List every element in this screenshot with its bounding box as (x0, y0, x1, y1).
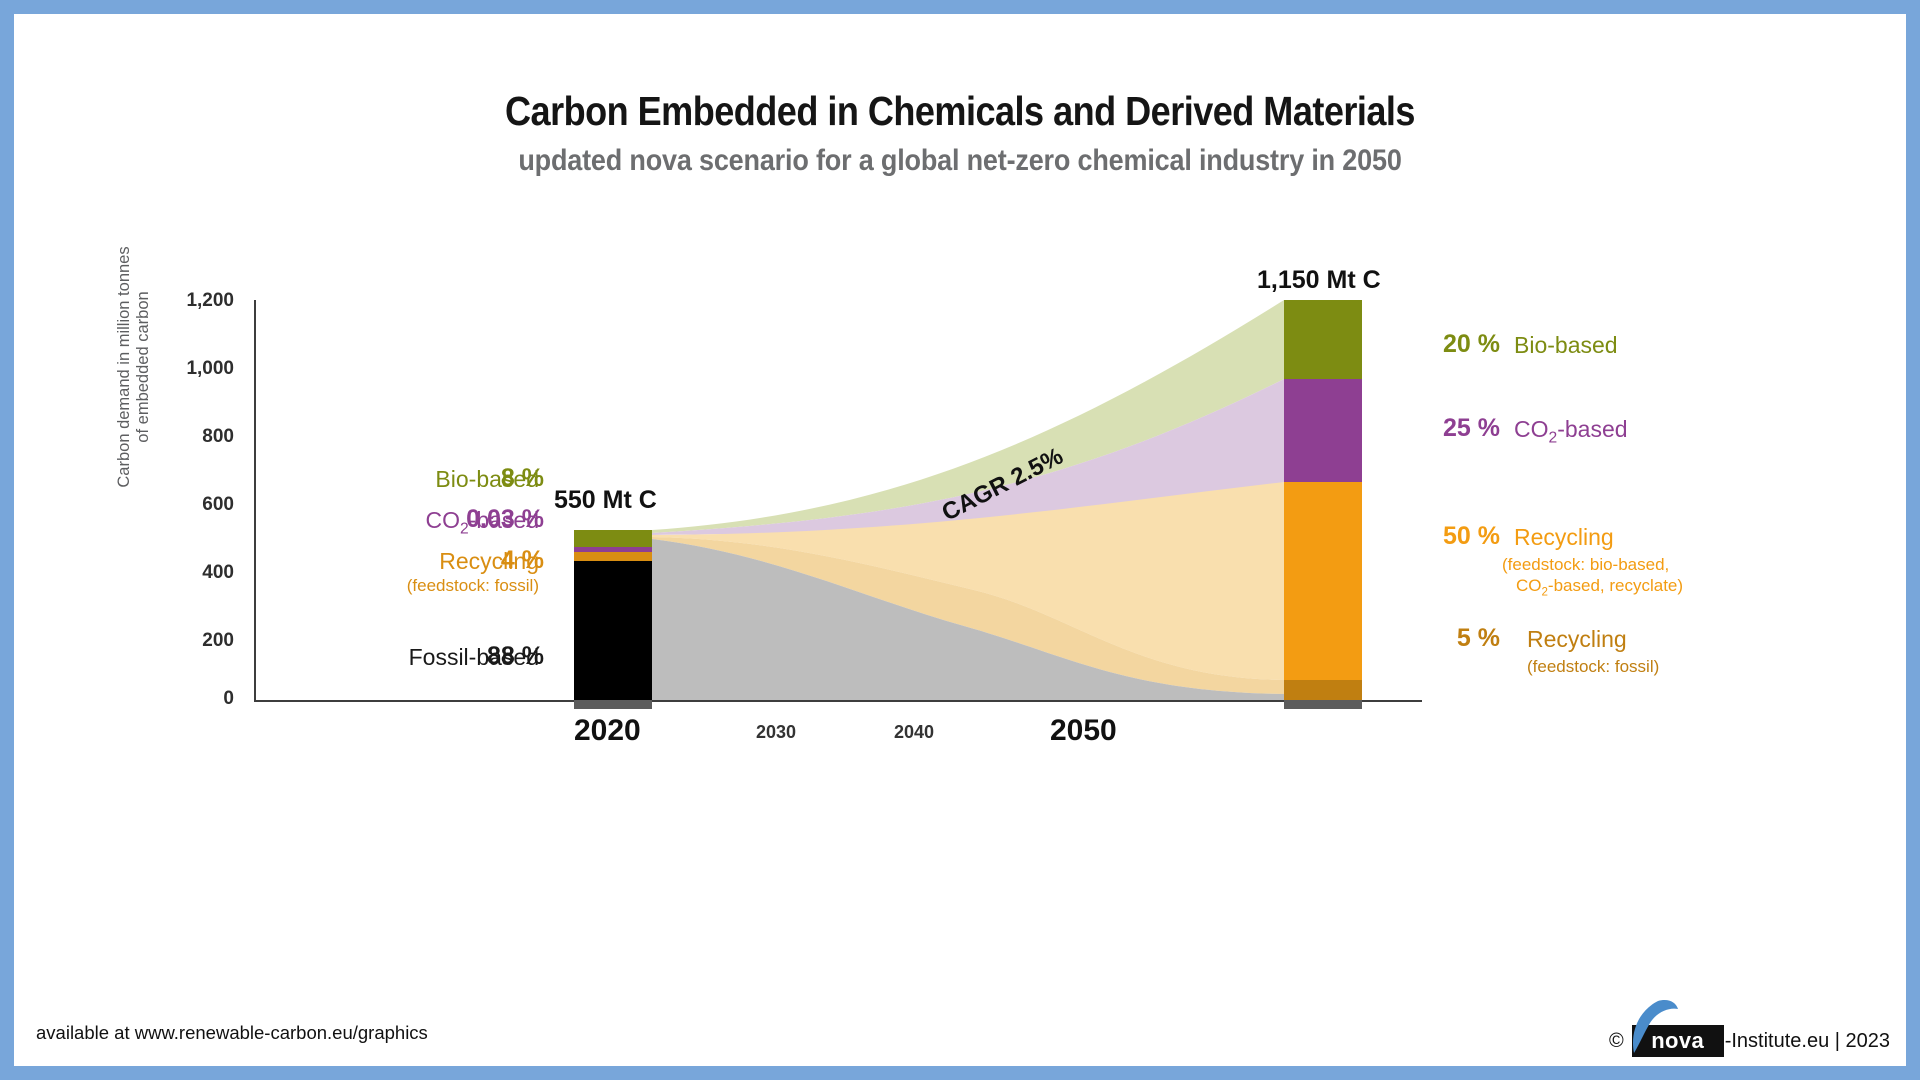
segment-2020-bio-based (574, 530, 652, 547)
y-tick-800: 800 (160, 426, 234, 448)
band-recycling-fossil (652, 537, 1284, 694)
x-axis-line (254, 700, 1422, 702)
y-tick-0: 0 (160, 688, 234, 710)
segment-2020-fossil-based (574, 561, 652, 700)
legend-left-pct-recycling: 4 % (444, 546, 544, 575)
bar-2020[interactable] (574, 530, 652, 700)
y-tick-1200: 1,200 (160, 290, 234, 312)
legend-right-sub-line1: (feedstock: bio-based, (1502, 554, 1683, 575)
poster-frame: Carbon Embedded in Chemicals and Derived… (0, 0, 1920, 1080)
segment-2050-recycling-fossil (1284, 680, 1362, 700)
bar-2050-baseline (1284, 700, 1362, 709)
band-fossil-based (652, 539, 1284, 700)
nova-logo: nova (1632, 1025, 1724, 1057)
legend-right-label-co2-based: CO2-based (1514, 416, 1628, 448)
y-axis-title: Carbon demand in million tonnes of embed… (115, 217, 151, 517)
y-tick-400: 400 (160, 562, 234, 584)
legend-right-sub-recycling-fossil: (feedstock: fossil) (1527, 656, 1659, 677)
legend-right-pct-recycling-fossil: 5 % (1414, 624, 1500, 653)
y-axis-line (254, 300, 256, 700)
x-tick-2050: 2050 (1050, 714, 1117, 748)
y-tick-200: 200 (160, 630, 234, 652)
legend-right-sub-line2: CO2-based, recyclate) (1502, 575, 1683, 603)
bar-2020-baseline (574, 700, 652, 709)
poster-canvas: Carbon Embedded in Chemicals and Derived… (14, 14, 1906, 1066)
nova-swoosh-icon (1618, 999, 1680, 1055)
legend-left-pct-co2-based: 0.03 % (414, 505, 544, 534)
segment-2050-recycling-renewable (1284, 482, 1362, 680)
segment-2050-bio-based (1284, 300, 1362, 379)
footer-institute-text: -Institute.eu | 2023 (1725, 1030, 1890, 1053)
footer-availability-text: available at www.renewable-carbon.eu/gra… (36, 1022, 428, 1044)
legend-right-label-recycling-renewable: Recycling (1514, 524, 1614, 551)
legend-right-pct-bio-based: 20 % (1414, 330, 1500, 359)
segment-2020-recycling-fossil (574, 552, 652, 561)
y-axis-title-line1: Carbon demand in million tonnes (115, 217, 134, 517)
legend-right-pct-co2-based: 25 % (1414, 414, 1500, 443)
y-axis-title-line2: of embedded carbon (134, 217, 153, 517)
legend-left-pct-bio-based: 8 % (444, 464, 544, 493)
legend-right-sub-recycling-renewable: (feedstock: bio-based, CO2-based, recycl… (1502, 554, 1683, 603)
x-tick-2020: 2020 (574, 714, 641, 748)
chart-plot-area: Carbon demand in million tonnes of embed… (14, 14, 1906, 1066)
x-tick-2030: 2030 (756, 722, 796, 743)
y-tick-600: 600 (160, 494, 234, 516)
legend-left-sub-recycling: (feedstock: fossil) (244, 576, 539, 596)
footer-copyright: © nova -Institute.eu | 2023 (1609, 1019, 1890, 1063)
legend-right-label-bio-based: Bio-based (1514, 332, 1618, 359)
cagr-annotation: CAGR 2.5% (938, 443, 1068, 528)
y-tick-1000: 1,000 (160, 358, 234, 380)
bar-2050-total-label: 1,150 Mt C (1257, 266, 1381, 295)
segment-2050-co2-based (1284, 379, 1362, 482)
legend-right-pct-recycling-renewable: 50 % (1414, 522, 1500, 551)
bar-2050[interactable] (1284, 300, 1362, 700)
legend-right-label-recycling-fossil: Recycling (1527, 626, 1627, 653)
transition-bands (14, 14, 1906, 1066)
bar-2020-total-label: 550 Mt C (554, 486, 657, 515)
x-tick-2040: 2040 (894, 722, 934, 743)
legend-left-pct-fossil-based: 88 % (444, 642, 544, 671)
